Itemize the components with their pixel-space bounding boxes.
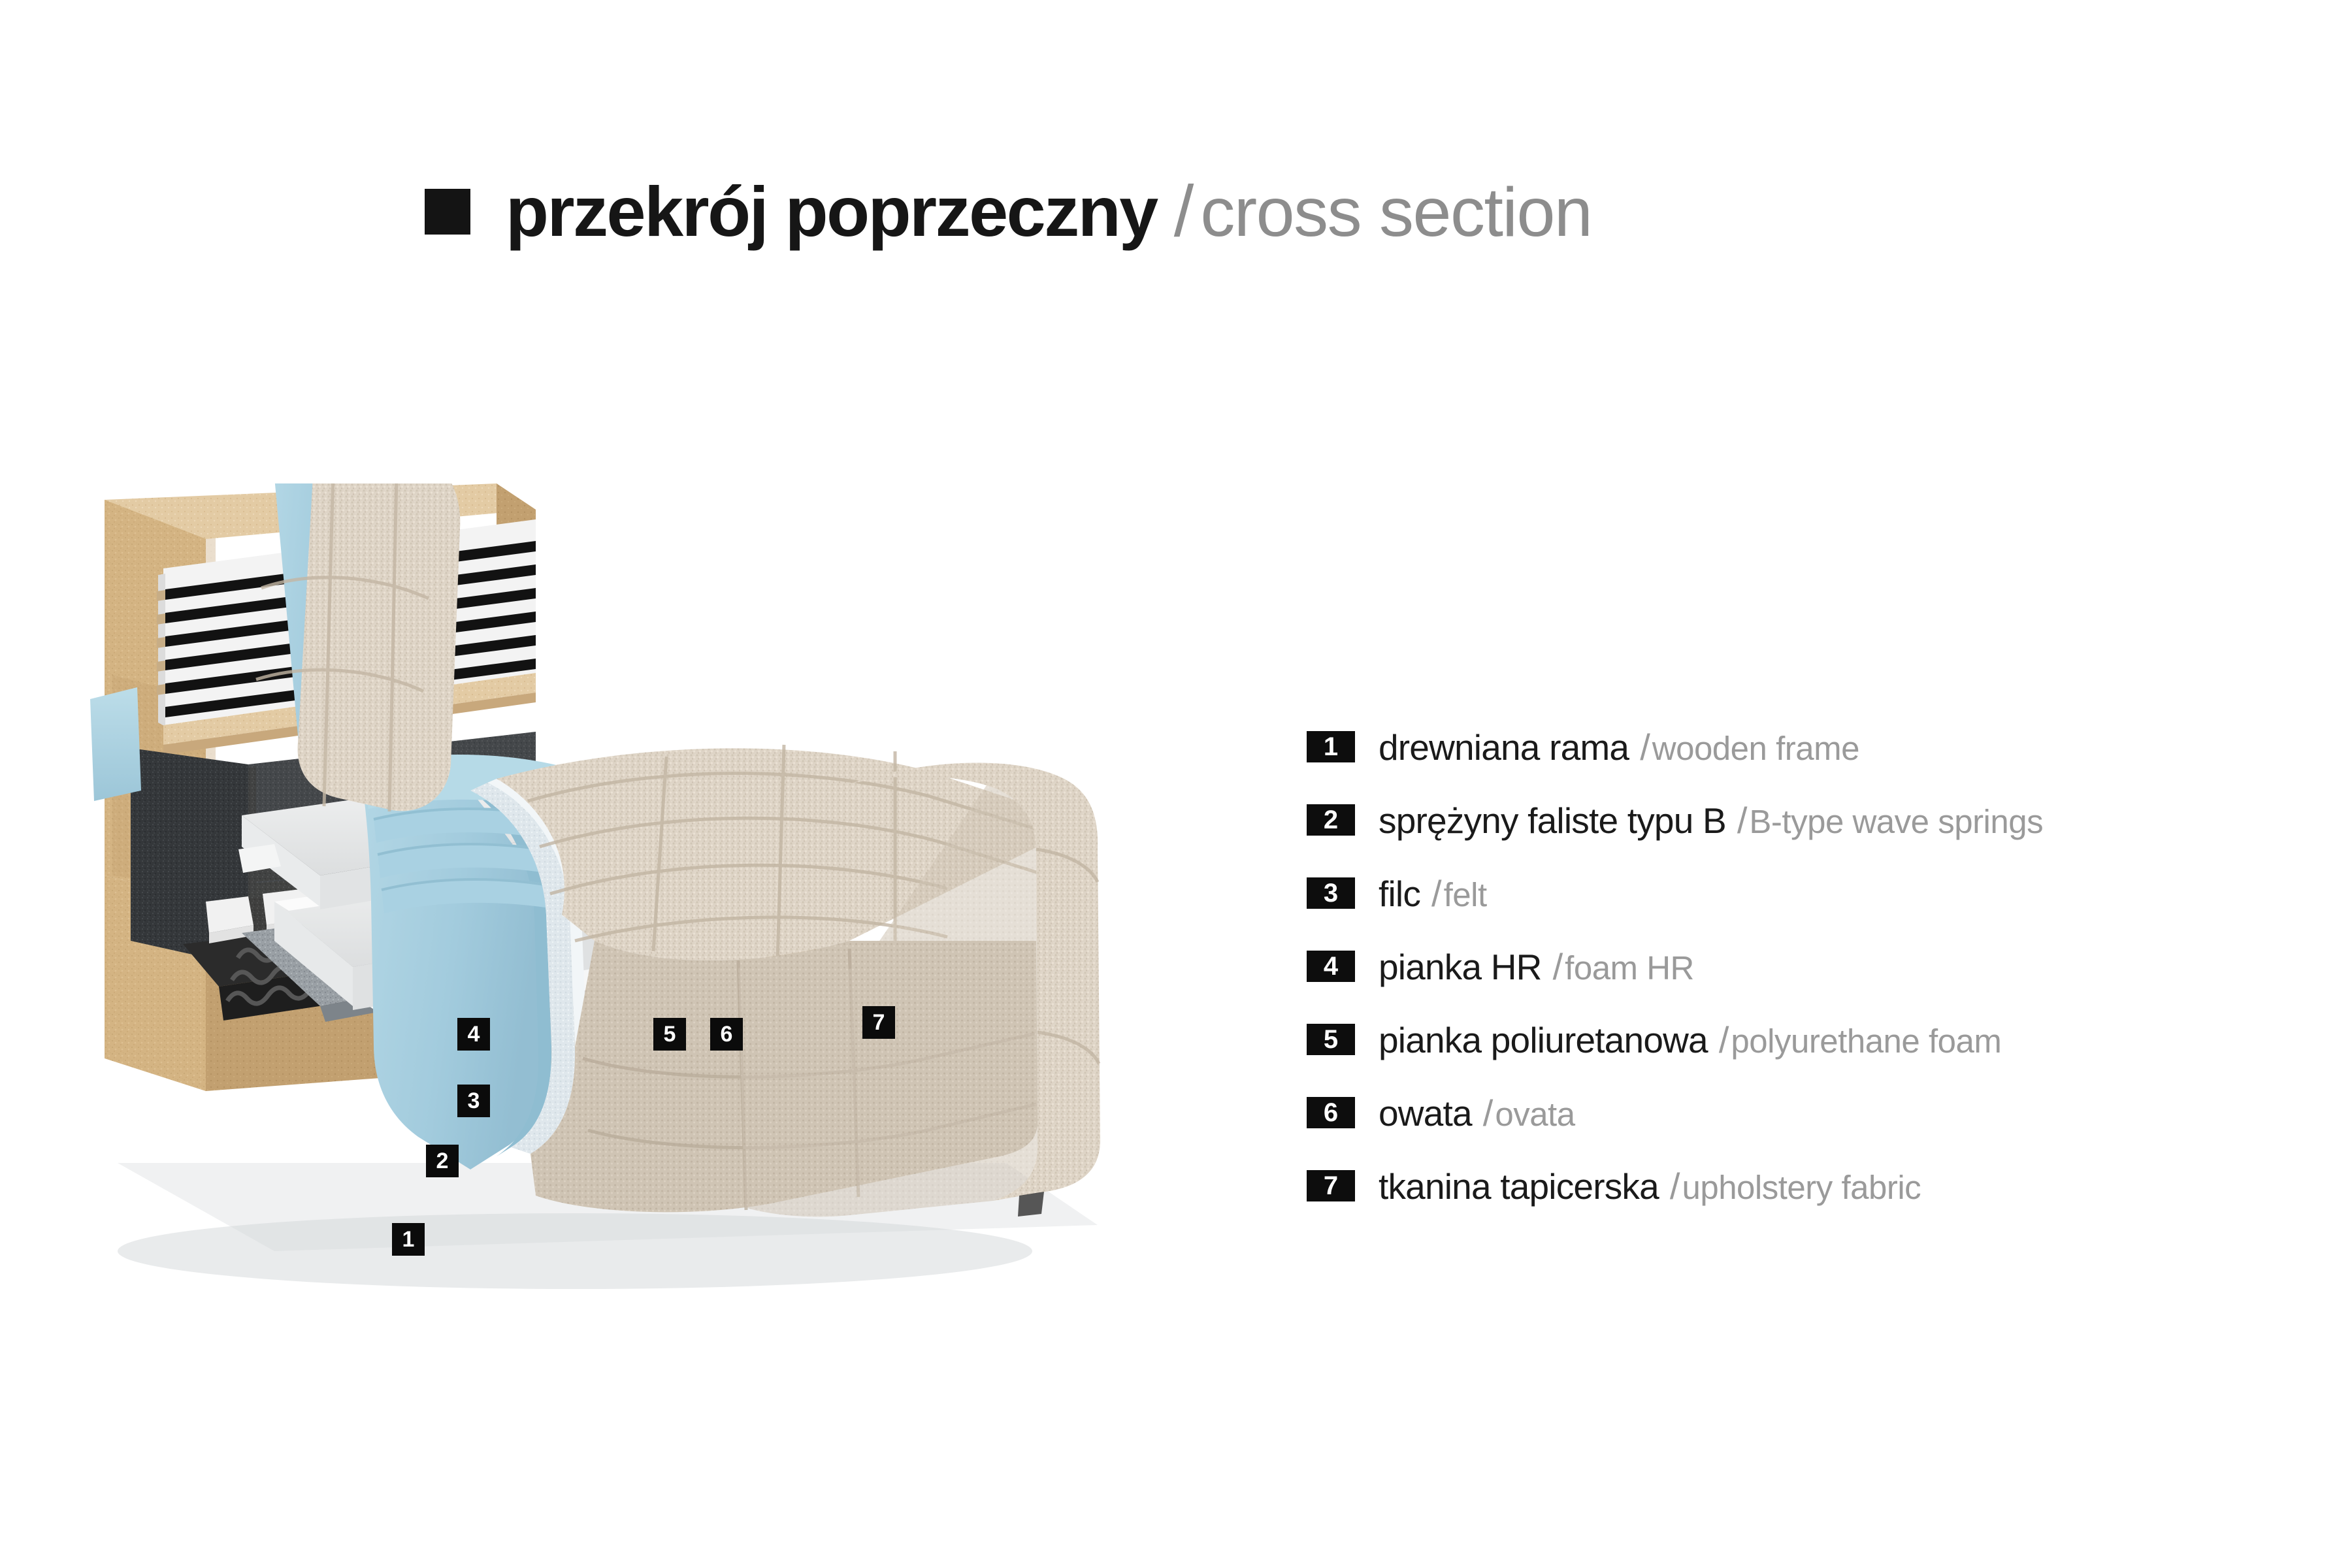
title-english: cross section — [1200, 173, 1592, 252]
callout-marker-3: 3 — [457, 1085, 490, 1117]
legend-badge-7: 7 — [1307, 1170, 1355, 1201]
legend-text-pl-7: tkanina tapicerska — [1379, 1166, 1659, 1207]
legend-item-2: 2 sprężyny faliste typu B / B-type wave … — [1307, 796, 2043, 844]
legend-label-4: pianka HR / foam HR — [1379, 945, 1694, 988]
legend-separator-2: / — [1737, 799, 1748, 841]
legend-text-pl-3: filc — [1379, 873, 1420, 915]
legend-badge-1: 1 — [1307, 731, 1355, 762]
legend-text-pl-5: pianka poliuretanowa — [1379, 1019, 1708, 1061]
sofa-cross-section-illustration — [78, 483, 1202, 1333]
legend-separator-3: / — [1431, 872, 1442, 915]
page-title: przekrój poprzeczny / cross section — [425, 170, 1592, 253]
legend-label-3: filc / felt — [1379, 872, 1487, 915]
legend-label-2: sprężyny faliste typu B / B-type wave sp… — [1379, 799, 2043, 841]
blue-foam-chip — [90, 687, 141, 801]
legend-separator-7: / — [1670, 1165, 1680, 1207]
legend-label-1: drewniana rama / wooden frame — [1379, 726, 1859, 768]
legend-separator-5: / — [1719, 1019, 1729, 1061]
callout-marker-5: 5 — [653, 1018, 686, 1051]
legend-text-pl-1: drewniana rama — [1379, 727, 1629, 768]
callout-marker-7: 7 — [862, 1006, 895, 1039]
legend-text-pl-2: sprężyny faliste typu B — [1379, 800, 1726, 841]
legend-item-1: 1 drewniana rama / wooden frame — [1307, 723, 2043, 771]
legend-text-en-3: felt — [1444, 875, 1487, 914]
callout-marker-4: 4 — [457, 1018, 490, 1051]
legend-item-5: 5 pianka poliuretanowa / polyurethane fo… — [1307, 1015, 2043, 1064]
diagram-page: przekrój poprzeczny / cross section — [0, 0, 2352, 1568]
legend-item-7: 7 tkanina tapicerska / upholstery fabric — [1307, 1162, 2043, 1210]
legend-badge-5: 5 — [1307, 1024, 1355, 1055]
legend-text-en-1: wooden frame — [1652, 729, 1859, 768]
title-polish: przekrój poprzeczny — [506, 171, 1157, 252]
legend-text-en-4: foam HR — [1565, 949, 1694, 987]
square-bullet-icon — [425, 189, 470, 235]
legend-text-pl-4: pianka HR — [1379, 946, 1542, 988]
title-text: przekrój poprzeczny / cross section — [506, 170, 1592, 253]
legend-badge-2: 2 — [1307, 804, 1355, 836]
callout-marker-2: 2 — [426, 1145, 459, 1177]
legend-badge-6: 6 — [1307, 1097, 1355, 1128]
legend-text-en-5: polyurethane foam — [1731, 1022, 2001, 1060]
title-separator: / — [1174, 170, 1194, 253]
legend-separator-4: / — [1553, 945, 1563, 988]
legend-text-en-7: upholstery fabric — [1682, 1168, 1921, 1207]
legend-item-3: 3 filc / felt — [1307, 869, 2043, 917]
callout-marker-1: 1 — [392, 1223, 425, 1256]
callout-marker-6: 6 — [710, 1018, 743, 1051]
legend-badge-4: 4 — [1307, 951, 1355, 982]
legend-label-5: pianka poliuretanowa / polyurethane foam — [1379, 1019, 2001, 1061]
legend-list: 1 drewniana rama / wooden frame 2 spręży… — [1307, 723, 2043, 1235]
legend-item-6: 6 owata / ovata — [1307, 1088, 2043, 1137]
legend-label-7: tkanina tapicerska / upholstery fabric — [1379, 1165, 1921, 1207]
legend-text-en-6: ovata — [1495, 1095, 1575, 1134]
legend-badge-3: 3 — [1307, 877, 1355, 909]
legend-item-4: 4 pianka HR / foam HR — [1307, 942, 2043, 990]
legend-label-6: owata / ovata — [1379, 1092, 1575, 1134]
legend-text-en-2: B-type wave springs — [1749, 802, 2043, 841]
legend-separator-1: / — [1640, 726, 1650, 768]
legend-separator-6: / — [1483, 1092, 1494, 1134]
legend-text-pl-6: owata — [1379, 1092, 1472, 1134]
